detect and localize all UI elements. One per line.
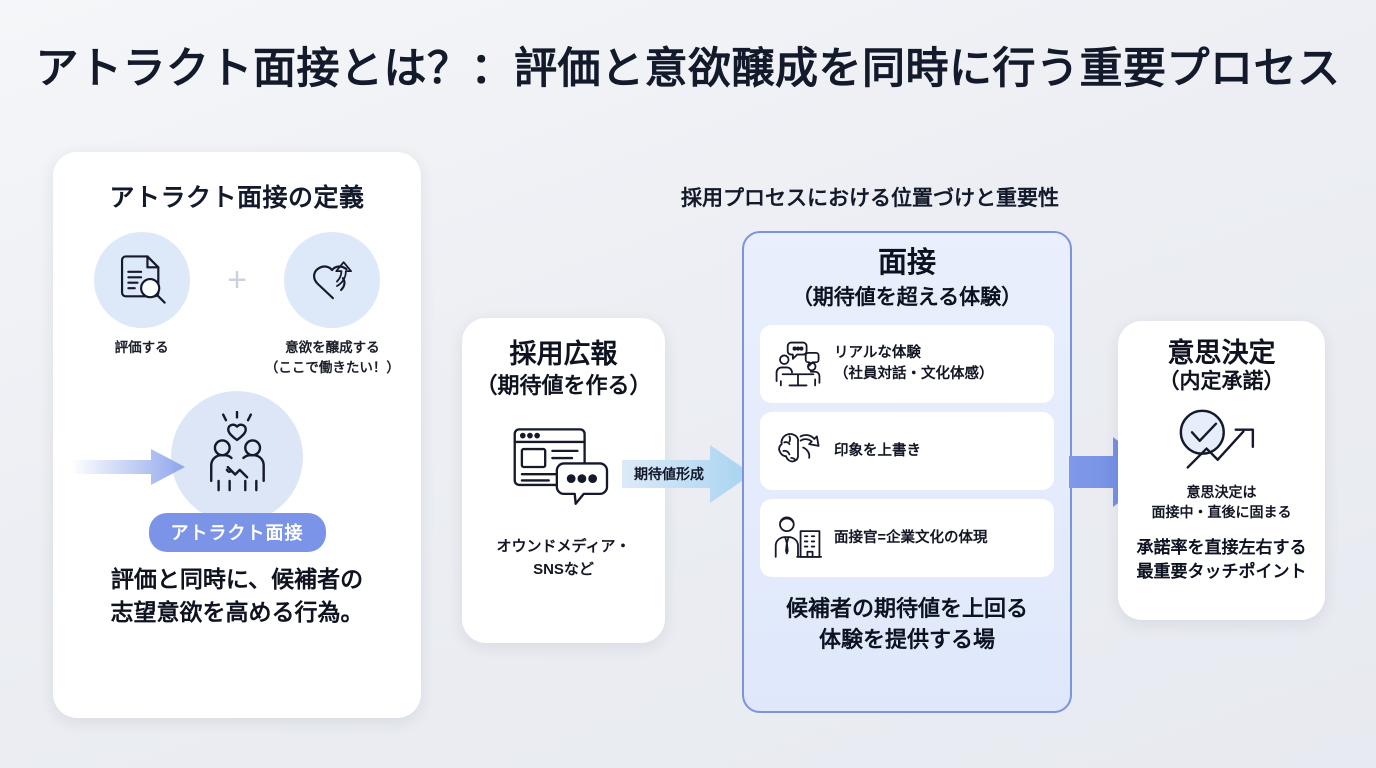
definition-card: アトラクト面接の定義 評価する + bbox=[53, 152, 421, 718]
interviewer-building-icon bbox=[772, 514, 824, 562]
pr-card-caption: オウンドメディア・ SNSなど bbox=[497, 536, 631, 581]
interview-item-label: 面接官=企業文化の体現 bbox=[834, 528, 987, 549]
definition-items-row: 評価する + 意欲を醸成する （ここで働きたい！） bbox=[73, 232, 401, 377]
interview-item-list: リアルな体験 （社員対話・文化体感） 印象を上書き bbox=[760, 325, 1054, 577]
interview-item-real-experience: リアルな体験 （社員対話・文化体感） bbox=[760, 325, 1054, 403]
definition-item-evaluate: 評価する bbox=[73, 232, 210, 358]
decision-card-title: 意思決定 bbox=[1168, 337, 1276, 369]
browser-chat-icon bbox=[510, 424, 618, 510]
decision-card-note: 意思決定は 面接中・直後に固まる bbox=[1152, 482, 1292, 523]
people-talking-icon bbox=[772, 340, 824, 388]
page-title: アトラクト面接とは？：評価と意欲醸成を同時に行う重要プロセス bbox=[0, 34, 1376, 96]
interview-item-label: 印象を上書き bbox=[834, 441, 921, 462]
fade-arrow-icon bbox=[71, 445, 189, 489]
definition-card-title: アトラクト面接の定義 bbox=[109, 178, 364, 214]
interview-panel-subtitle: （期待値を超える体験） bbox=[792, 281, 1022, 311]
definition-item-label: 評価する bbox=[115, 338, 169, 358]
interview-item-impression: 印象を上書き bbox=[760, 412, 1054, 490]
decision-card-subtitle: （内定承諾） bbox=[1159, 369, 1285, 395]
document-search-icon bbox=[94, 232, 190, 328]
arrow1-label: 期待値形成 bbox=[634, 464, 704, 484]
decision-card: 意思決定 （内定承諾） 意思決定は 面接中・直後に固まる 承諾率を直接左右する … bbox=[1118, 321, 1325, 620]
pr-card-subtitle: （期待値を作る） bbox=[475, 372, 651, 401]
definition-item-label: 意欲を醸成する （ここで働きたい！） bbox=[265, 338, 400, 377]
attract-interview-highlight: アトラクト面接 bbox=[73, 401, 401, 541]
definition-item-motivate: 意欲を醸成する （ここで働きたい！） bbox=[264, 232, 401, 377]
plus-icon: + bbox=[220, 232, 253, 328]
attract-badge: アトラクト面接 bbox=[149, 513, 326, 552]
interview-item-label: リアルな体験 （社員対話・文化体感） bbox=[834, 343, 994, 385]
process-section-header: 採用プロセスにおける位置づけと重要性 bbox=[620, 182, 1120, 212]
pr-card-title: 採用広報 bbox=[510, 338, 618, 372]
interview-panel: 面接 （期待値を超える体験） リアルな体験 （社員対話・文化体感） bbox=[742, 231, 1072, 713]
decision-card-highlight: 承諾率を直接左右する 最重要タッチポイント bbox=[1137, 536, 1307, 584]
check-growth-icon bbox=[1170, 404, 1274, 476]
interview-panel-footer: 候補者の期待値を上回る 体験を提供する場 bbox=[786, 594, 1028, 655]
brain-arrow-icon bbox=[772, 427, 824, 475]
heart-growth-icon bbox=[284, 232, 380, 328]
interview-panel-title: 面接 bbox=[878, 247, 936, 280]
definition-description: 評価と同時に、候補者の 志望意欲を高める行為。 bbox=[111, 563, 364, 628]
interview-item-interviewer: 面接官=企業文化の体現 bbox=[760, 499, 1054, 577]
handshake-heart-icon bbox=[171, 391, 303, 523]
